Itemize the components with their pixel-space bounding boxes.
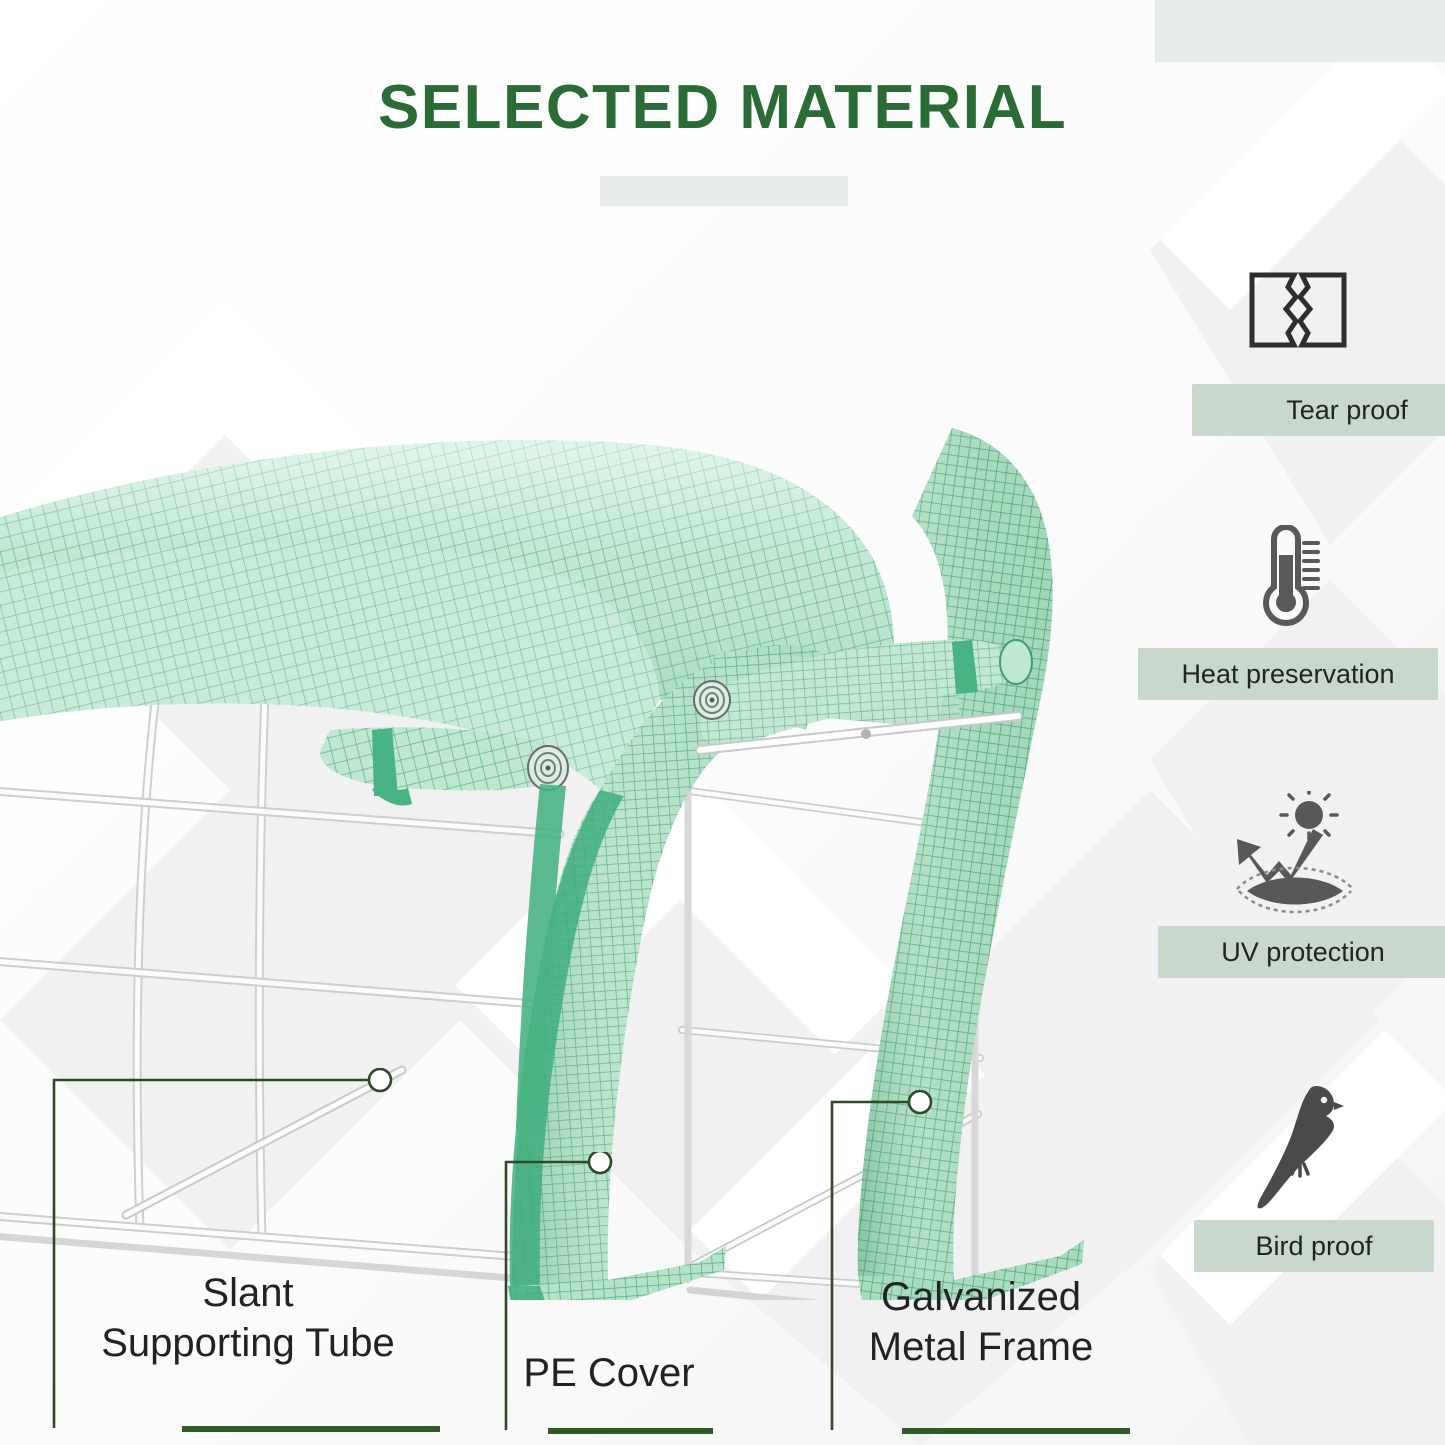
callout-rule-slant-supporting-tube xyxy=(182,1426,440,1432)
feature-heat-preservation: Heat preservation xyxy=(1130,522,1445,712)
callout-pe-cover: PE Cover xyxy=(500,1152,715,1430)
feature-tear-proof: Tear proof xyxy=(1150,262,1445,442)
callout-slant-supporting-tube: Slant Supporting Tube xyxy=(40,1068,440,1428)
thermometer-icon xyxy=(1130,522,1445,632)
callout-anchor-dot xyxy=(909,1091,931,1113)
feature-bird-proof: Bird proof xyxy=(1150,1078,1445,1278)
feature-label-heat-preservation: Heat preservation xyxy=(1138,648,1438,700)
page-title: SELECTED MATERIAL xyxy=(0,72,1445,143)
torn-fabric-icon xyxy=(1150,262,1445,362)
feature-label-uv-protection: UV protection xyxy=(1158,926,1445,978)
callout-leader-line xyxy=(832,1102,910,1430)
callout-label-galvanized-metal-frame: Galvanized Metal Frame xyxy=(832,1272,1130,1372)
infographic-canvas: SELECTED MATERIAL xyxy=(0,0,1445,1445)
callout-rule-galvanized-metal-frame xyxy=(902,1428,1130,1434)
callout-label-slant-supporting-tube: Slant Supporting Tube xyxy=(54,1268,442,1368)
callout-leader-line xyxy=(54,1080,370,1428)
feature-uv-protection: UV protection xyxy=(1140,790,1445,985)
corner-accent-bar xyxy=(1155,0,1445,62)
callout-anchor-dot xyxy=(589,1152,611,1173)
callout-galvanized-metal-frame: Galvanized Metal Frame xyxy=(826,1090,1132,1430)
title-underline-bar xyxy=(600,176,848,206)
sun-reflect-icon xyxy=(1140,790,1445,918)
feature-label-tear-proof: Tear proof xyxy=(1192,384,1445,436)
callout-anchor-dot xyxy=(369,1069,391,1091)
feature-label-bird-proof: Bird proof xyxy=(1194,1220,1434,1272)
bird-icon xyxy=(1150,1078,1445,1213)
callout-rule-pe-cover xyxy=(548,1428,713,1434)
callout-label-pe-cover: PE Cover xyxy=(506,1348,712,1398)
